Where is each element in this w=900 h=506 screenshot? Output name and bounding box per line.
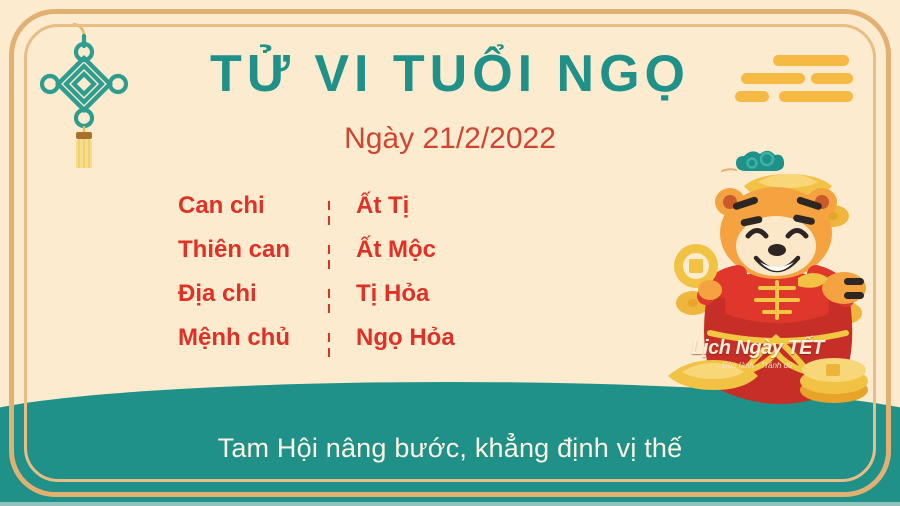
row-value: Ất Mộc [356, 236, 436, 264]
teal-swirl-cloud-icon [722, 151, 784, 171]
row-label: Can chi [178, 192, 328, 220]
row-divider [328, 289, 330, 315]
row-label: Thiên can [178, 236, 328, 264]
row-divider [328, 245, 330, 271]
row-label: Địa chi [178, 280, 328, 308]
table-row: Mệnh chủ Ngọ Hỏa [178, 324, 508, 368]
table-row: Can chi Ất Tị [178, 192, 508, 236]
table-row: Địa chi Tị Hỏa [178, 280, 508, 324]
row-value: Ất Tị [356, 192, 409, 220]
logo-tagline: Đón lành - Tránh dữ [690, 361, 825, 370]
banner-text: Tam Hội nâng bước, khẳng định vị thế [0, 433, 900, 464]
chinese-knot-icon [28, 18, 138, 173]
horoscope-poster: Tam Hội nâng bước, khẳng định vị thế TỬ … [0, 0, 900, 506]
info-table: Can chi Ất Tị Thiên can Ất Mộc Địa chi T… [178, 192, 508, 368]
banner-stripe [0, 502, 900, 506]
watermark-logo: Lịch Ngày TẾT Đón lành - Tránh dữ [690, 338, 825, 388]
row-divider [328, 201, 330, 227]
row-label: Mệnh chủ [178, 324, 328, 352]
logo-text: Lịch Ngày TẾT [690, 338, 825, 358]
row-value: Ngọ Hỏa [356, 324, 455, 352]
row-divider [328, 333, 330, 359]
table-row: Thiên can Ất Mộc [178, 236, 508, 280]
row-value: Tị Hỏa [356, 280, 429, 308]
